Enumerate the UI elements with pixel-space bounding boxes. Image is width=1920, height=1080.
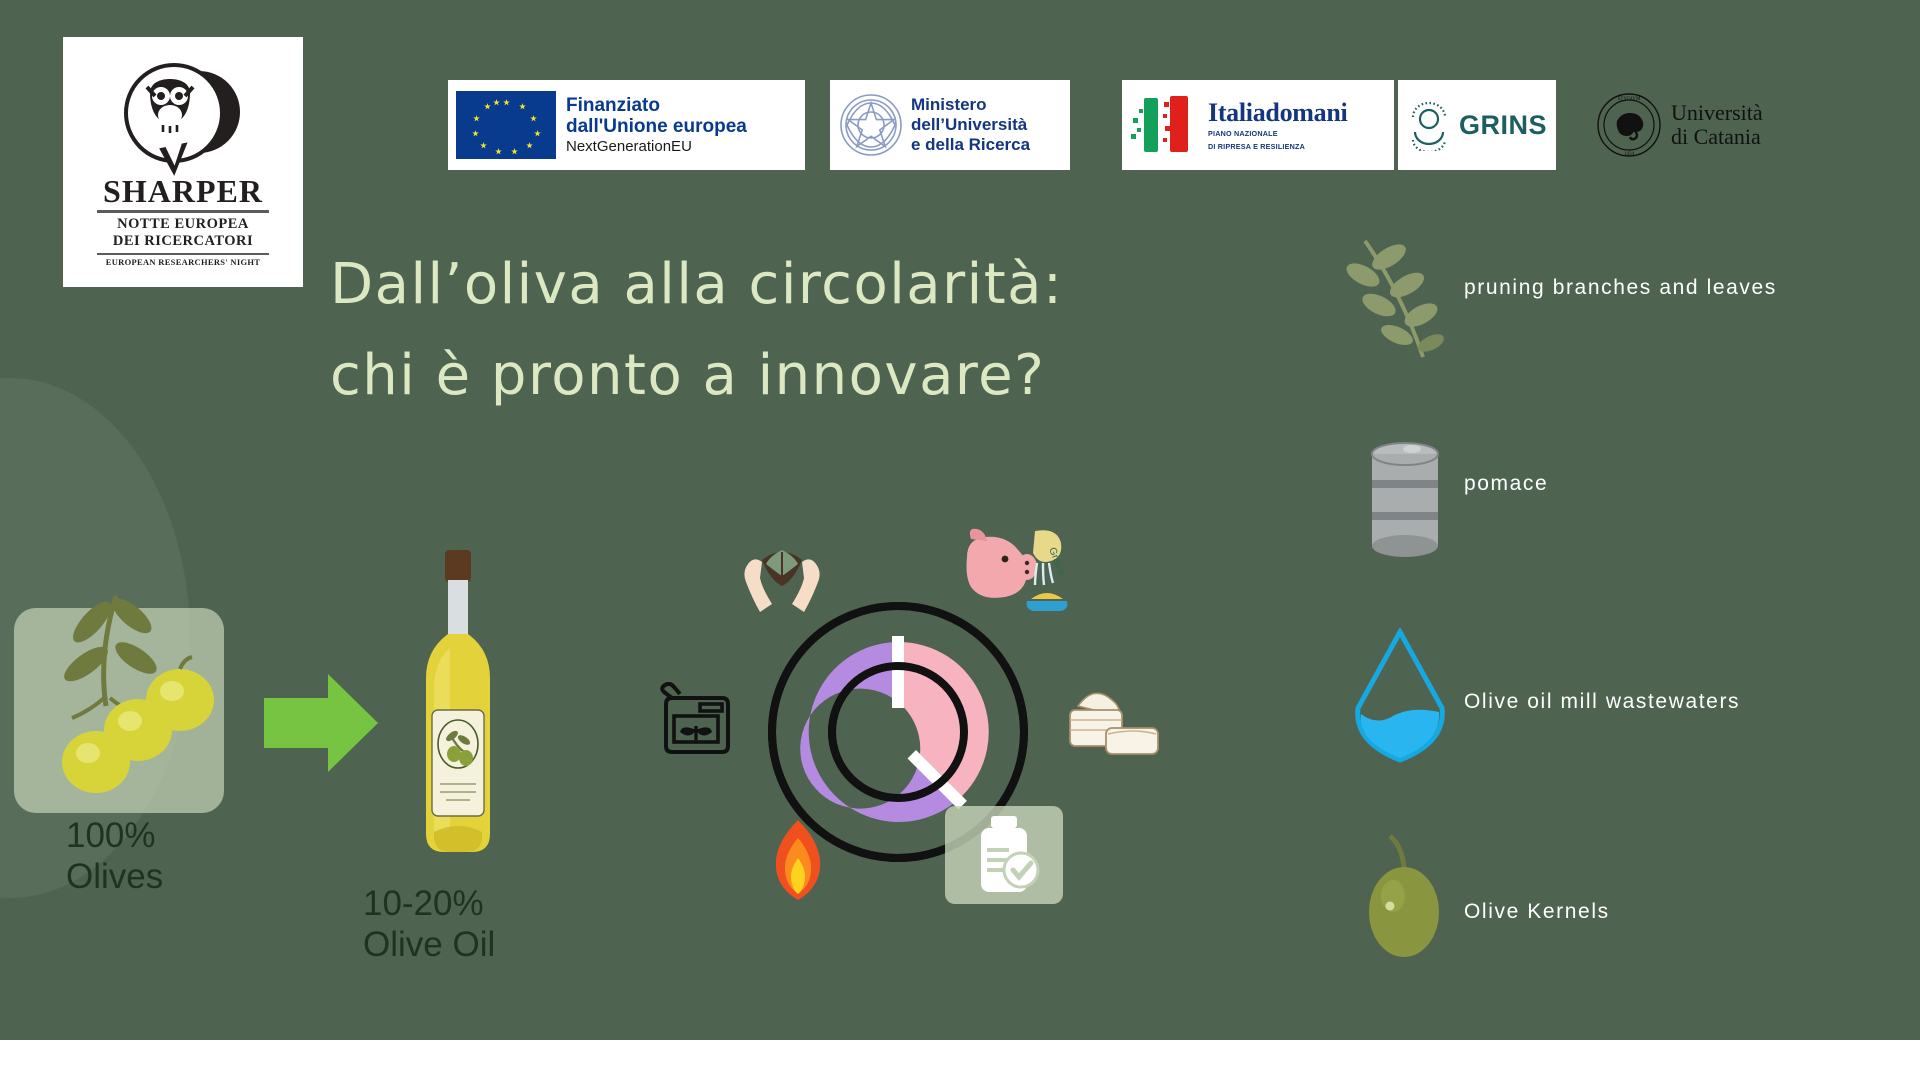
- logo-grins: GRINS: [1398, 80, 1556, 170]
- supplement-bottle-glyph: [945, 806, 1063, 904]
- italiadomani-text: Italiadomani PIANO NAZIONALE DI RIPRESA …: [1208, 99, 1347, 152]
- mur-line-3: e della Ricerca: [911, 135, 1030, 155]
- mur-line-1: Ministero: [911, 95, 1030, 115]
- legend-item-kernels: Olive Kernels: [1464, 900, 1610, 924]
- mur-text: Ministero dell’Università e della Ricerc…: [911, 95, 1030, 154]
- logo-universita-di-catania: STVDIVM 1434 Università di Catania: [1595, 88, 1815, 162]
- label-olives-percentage: 100% Olives: [66, 816, 163, 897]
- legend-label-kernels: Olive Kernels: [1464, 900, 1610, 924]
- republic-emblem-icon: [837, 91, 905, 159]
- catania-elephant-seal-icon: STVDIVM 1434: [1595, 91, 1663, 159]
- oil-percent: 10-20%: [363, 884, 495, 925]
- unict-text: Università di Catania: [1671, 101, 1763, 149]
- italiadomani-wordmark: Italiadomani: [1208, 99, 1347, 126]
- sharper-divider-2: [97, 253, 269, 255]
- sharper-subtitle-line1: NOTTE EUROPEA: [117, 216, 249, 233]
- flame-icon: [760, 818, 836, 902]
- olive-oil-bottle-icon: [408, 548, 508, 858]
- slide-canvas: SHARPER NOTTE EUROPEA DEI RICERCATORI EU…: [0, 0, 1920, 1080]
- legend-item-pruning: pruning branches and leaves: [1464, 276, 1777, 300]
- cosmetic-cream-jar-icon: [1062, 680, 1172, 766]
- eu-line-3: NextGenerationEU: [566, 138, 747, 155]
- italiadomani-sub-1: PIANO NAZIONALE: [1208, 129, 1347, 139]
- donut-gap-top: [892, 636, 904, 708]
- svg-text:STVDIVM: STVDIVM: [1618, 97, 1641, 102]
- italia-domani-flag-icon: [1130, 92, 1202, 158]
- logo-italiadomani-pnrr: Italiadomani PIANO NAZIONALE DI RIPRESA …: [1122, 80, 1394, 170]
- sharper-subtitle-line2: DEI RICERCATORI: [113, 233, 253, 250]
- legend-item-pomace: pomace: [1464, 472, 1548, 496]
- logo-eu-funding: Finanziato dall'Unione europea NextGener…: [448, 80, 805, 170]
- eu-funding-text: Finanziato dall'Unione europea NextGener…: [566, 95, 747, 155]
- grins-wordmark: GRINS: [1459, 110, 1547, 141]
- legend-item-wastewaters: Olive oil mill wastewaters: [1464, 690, 1740, 714]
- title-line-2: chi è pronto a innovare?: [330, 331, 1390, 422]
- eu-line-1: Finanziato: [566, 95, 747, 117]
- olives-percent: 100%: [66, 816, 163, 857]
- sharper-tagline: EUROPEAN RESEARCHERS' NIGHT: [106, 257, 261, 267]
- water-drop-icon: [1350, 628, 1450, 766]
- olives-word: Olives: [66, 857, 163, 898]
- sharper-wordmark: SHARPER: [103, 175, 263, 207]
- process-arrow-icon: [262, 668, 382, 778]
- page-title: Dall’oliva alla circolarità: chi è pront…: [330, 240, 1390, 421]
- mur-line-2: dell’Università: [911, 115, 1030, 135]
- title-line-1: Dall’oliva alla circolarità:: [330, 240, 1390, 331]
- unict-line-1: Università: [1671, 101, 1763, 125]
- poster-slide: SHARPER NOTTE EUROPEA DEI RICERCATORI EU…: [0, 0, 1920, 1040]
- supplement-bottle-icon: [945, 806, 1063, 904]
- pig-eating-grains-icon: Grains: [963, 527, 1069, 617]
- italiadomani-sub-2: DI RIPRESA E RESILIENZA: [1208, 142, 1347, 152]
- sharper-owl-icon: [118, 61, 248, 171]
- label-olive-oil-percentage: 10-20% Olive Oil: [363, 884, 495, 965]
- hands-holding-soil-icon: [732, 532, 832, 618]
- sharper-divider: [97, 210, 269, 213]
- logo-ministero-universita-ricerca: Ministero dell’Università e della Ricerc…: [830, 80, 1070, 170]
- olive-kernel-icon: [1360, 830, 1448, 960]
- biofuel-jerrycan-icon: [658, 682, 738, 758]
- olive-sprig-icon: [1345, 235, 1475, 365]
- oil-word: Olive Oil: [363, 925, 495, 966]
- barrel-icon: [1360, 440, 1450, 560]
- unict-line-2: di Catania: [1671, 125, 1763, 149]
- sharper-logo: SHARPER NOTTE EUROPEA DEI RICERCATORI EU…: [63, 37, 303, 287]
- legend-label-pruning: pruning branches and leaves: [1464, 276, 1777, 300]
- owl-glyph: [142, 79, 198, 137]
- grins-mark-icon: [1407, 99, 1451, 151]
- eu-flag-icon: [456, 91, 556, 159]
- legend-label-wastewaters: Olive oil mill wastewaters: [1464, 690, 1740, 714]
- legend-label-pomace: pomace: [1464, 472, 1548, 496]
- svg-text:1434: 1434: [1624, 152, 1635, 157]
- olive-branch-with-olives-icon: [20, 578, 260, 808]
- eu-line-2: dall'Unione europea: [566, 116, 747, 138]
